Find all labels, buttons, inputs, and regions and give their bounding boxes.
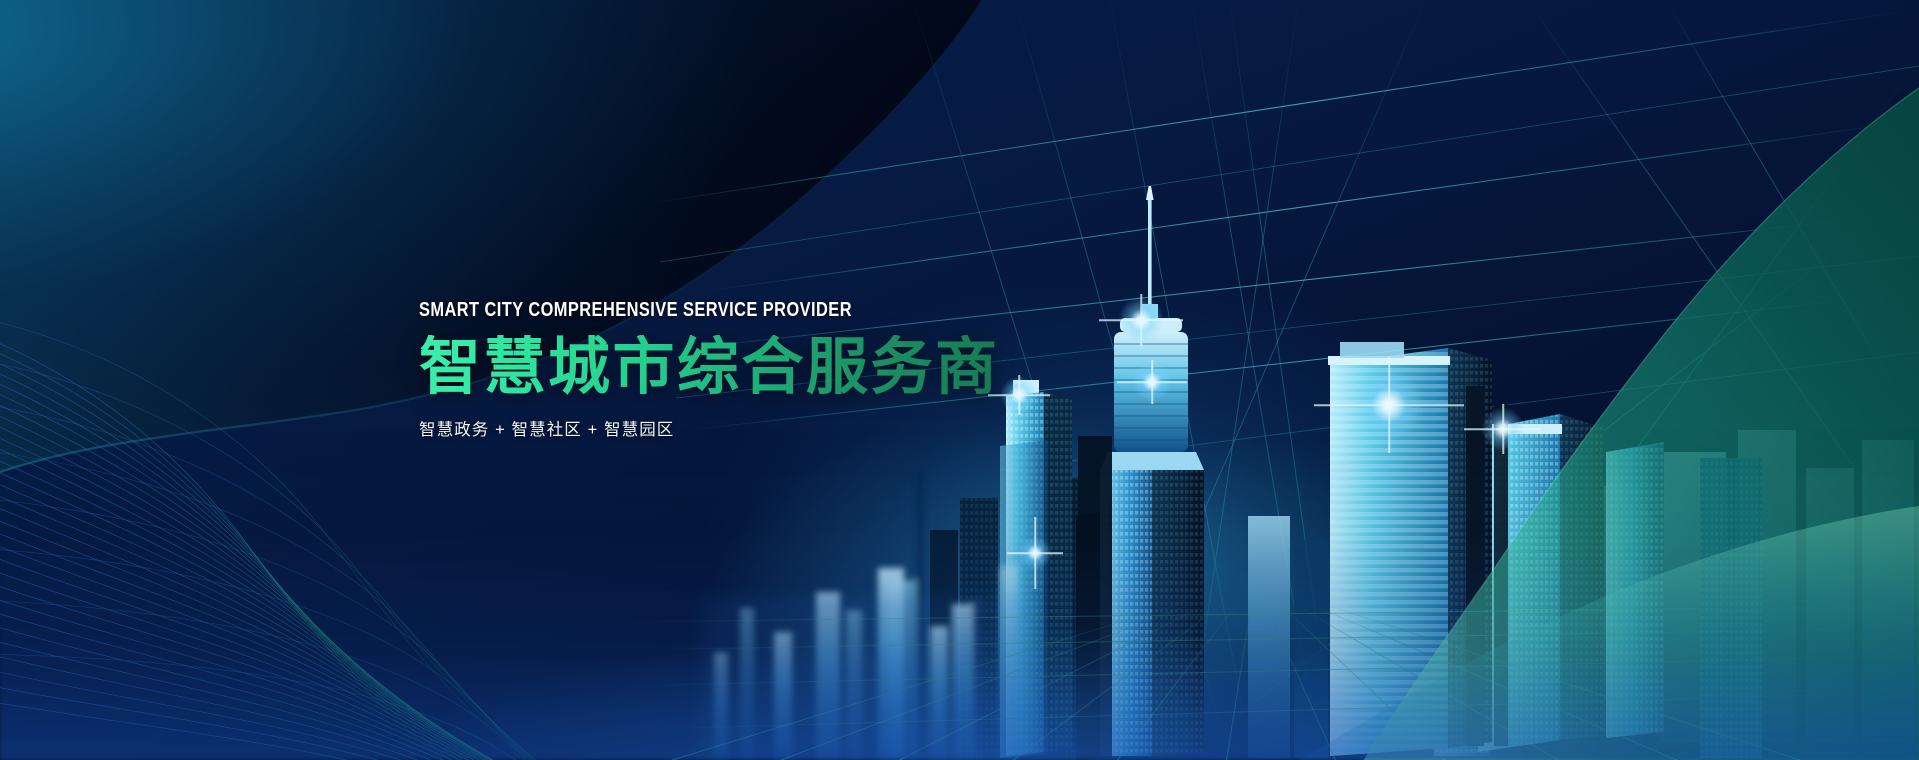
smart-city-banner: SMART CITY COMPREHENSIVE SERVICE PROVIDE… — [0, 0, 1919, 760]
banner-subheadline: 智慧政务 + 智慧社区 + 智慧园区 — [419, 416, 1000, 440]
banner-eyebrow-text: SMART CITY COMPREHENSIVE SERVICE PROVIDE… — [419, 300, 883, 321]
banner-copy-block: SMART CITY COMPREHENSIVE SERVICE PROVIDE… — [419, 300, 1000, 440]
banner-headline: 智慧城市综合服务商 — [419, 335, 1000, 401]
